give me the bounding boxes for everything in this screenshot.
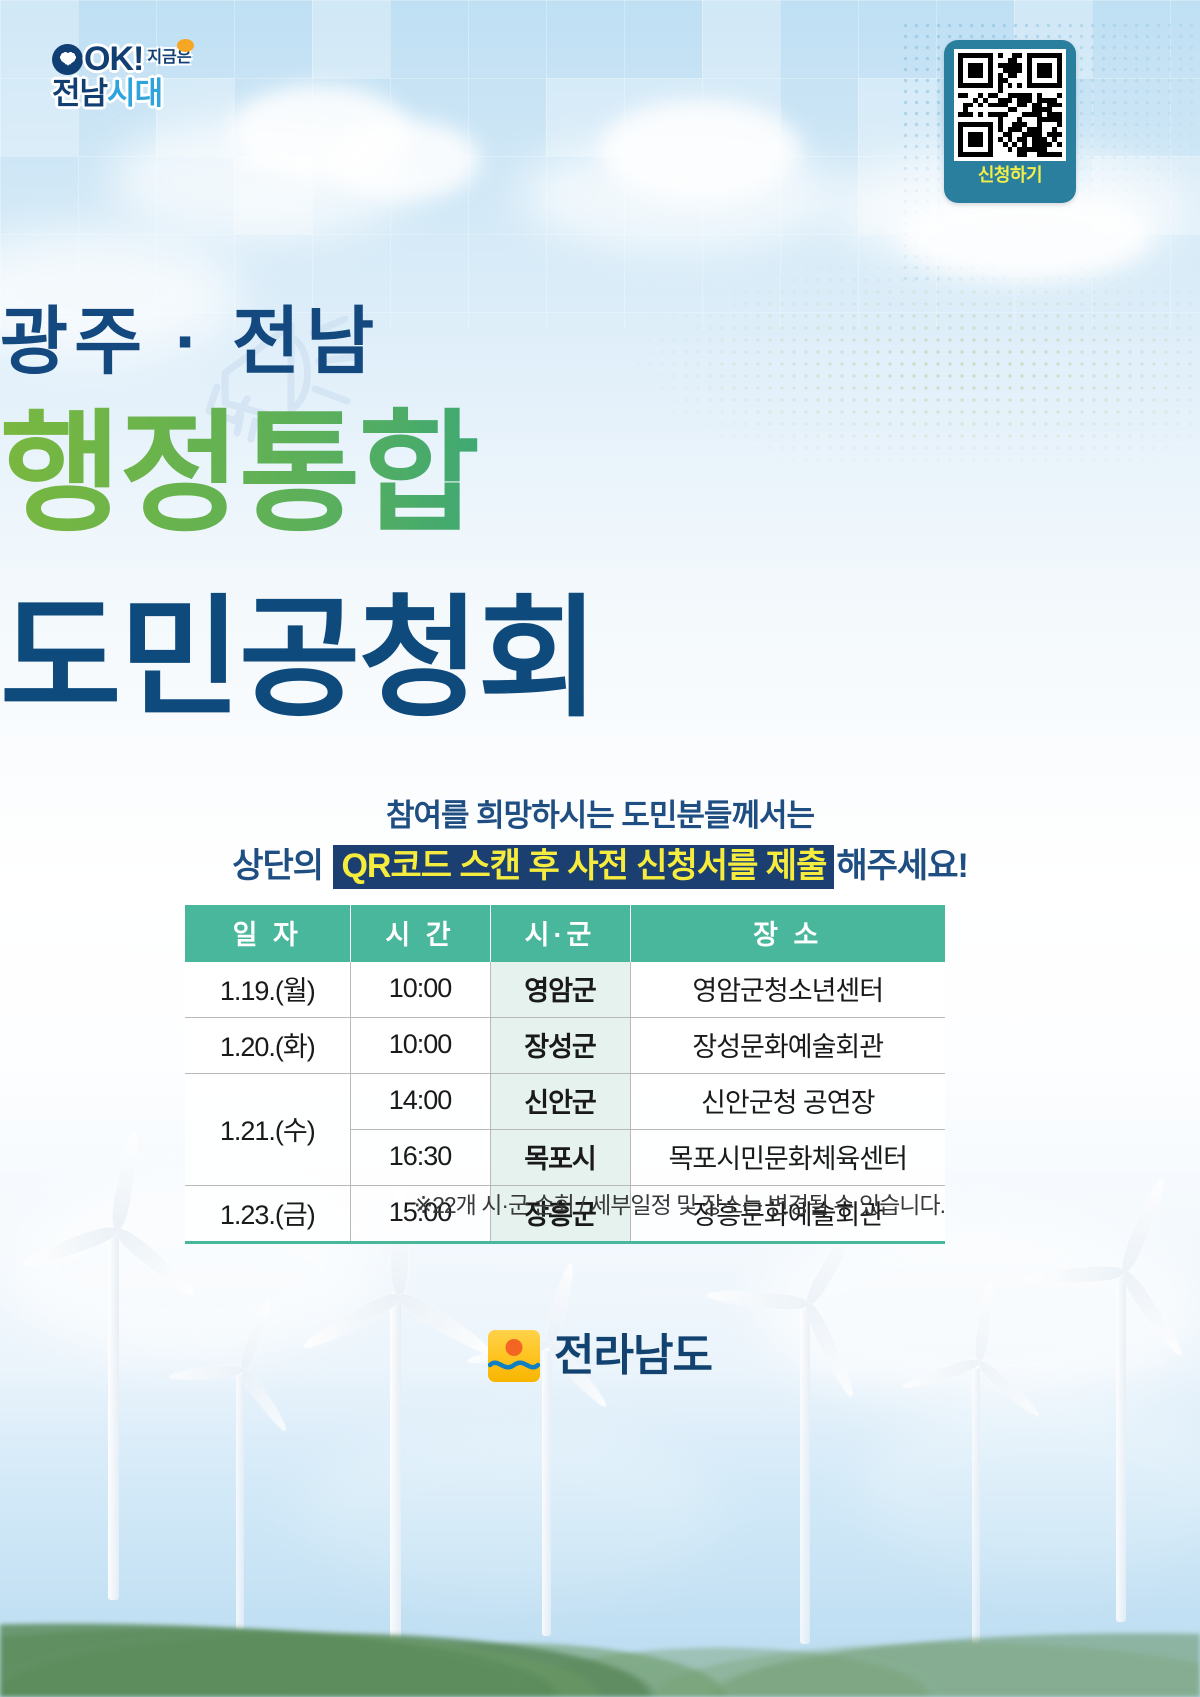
cell-place: 신안군청 공연장	[630, 1074, 945, 1130]
table-row: 1.19.(월)10:00영암군영암군청소년센터	[185, 962, 945, 1018]
ok-wordmark: ❤OK!	[52, 42, 143, 76]
footer-organization: 전라남도	[0, 1330, 1200, 1382]
cell-place: 목포시민문화체육센터	[630, 1130, 945, 1186]
subcopy-highlight: QR코드 스캔 후 사전 신청서를 제출	[333, 845, 834, 889]
cell-time: 10:00	[350, 1018, 490, 1074]
cloud	[900, 190, 1150, 280]
qr-apply-badge[interactable]: 신청하기	[944, 40, 1076, 203]
brand-era: 시대	[107, 76, 162, 111]
th-time: 시 간	[350, 905, 490, 962]
ok-text: OK!	[84, 42, 143, 76]
qr-apply-label: 신청하기	[978, 166, 1042, 184]
table-header-row: 일 자 시 간 시·군 장 소	[185, 905, 945, 962]
cell-sigun: 장성군	[490, 1018, 630, 1074]
table-row: 1.20.(화)10:00장성군장성문화예술회관	[185, 1018, 945, 1074]
cell-place: 영암군청소년센터	[630, 962, 945, 1018]
now-text: 지금은	[147, 50, 191, 69]
cell-date: 1.20.(화)	[185, 1018, 350, 1074]
cell-date: 1.21.(수)	[185, 1074, 350, 1186]
tree-line	[0, 1527, 1200, 1697]
brand-jeonnam: 전남	[52, 76, 107, 111]
sun-wave-emblem-icon	[488, 1330, 540, 1382]
cloud	[600, 100, 800, 200]
cloud	[330, 120, 480, 200]
th-date: 일 자	[185, 905, 350, 962]
schedule-note: ※22개 시·군 순회 / 세부일정 및 장소는 변경될 수 있습니다.	[0, 1186, 945, 1220]
th-place: 장 소	[630, 905, 945, 962]
th-sigun: 시·군	[490, 905, 630, 962]
subcopy-line-2: 상단의 QR코드 스캔 후 사전 신청서를 제출해주세요!	[0, 838, 1200, 887]
cell-sigun: 신안군	[490, 1074, 630, 1130]
page-eyebrow: 광주 · 전남	[0, 305, 1200, 379]
cell-time: 14:00	[350, 1074, 490, 1130]
qr-code-icon[interactable]	[954, 49, 1066, 161]
orange-dot-icon	[177, 39, 194, 52]
brand-logo: ❤OK! 지금은 전남시대	[52, 42, 212, 109]
heart-icon: ❤	[52, 44, 83, 75]
page-title-gradient: 행정통합	[0, 405, 1200, 544]
cell-place: 장성문화예술회관	[630, 1018, 945, 1074]
organization-name: 전라남도	[554, 1334, 712, 1378]
cell-date: 1.19.(월)	[185, 962, 350, 1018]
cell-sigun: 영암군	[490, 962, 630, 1018]
table-row: 1.21.(수)14:00신안군신안군청 공연장	[185, 1074, 945, 1130]
cell-time: 10:00	[350, 962, 490, 1018]
subcopy-suffix: 해주세요!	[836, 847, 967, 885]
subcopy-line-1: 참여를 희망하시는 도민분들께서는	[0, 790, 1200, 835]
cell-sigun: 목포시	[490, 1130, 630, 1186]
page-title-main: 도민공청회	[0, 590, 1200, 729]
cell-time: 16:30	[350, 1130, 490, 1186]
subcopy-prefix: 상단의	[232, 847, 331, 885]
